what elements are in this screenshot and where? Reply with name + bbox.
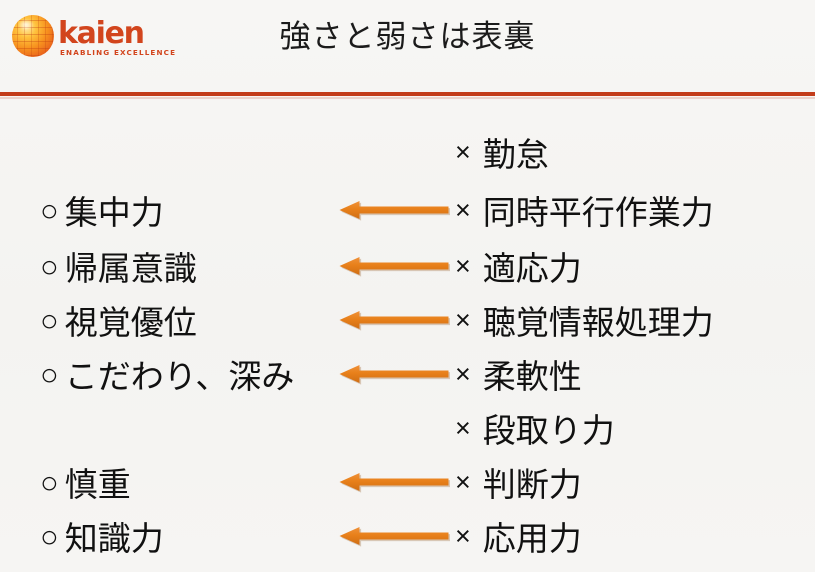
cross-icon: × bbox=[455, 307, 471, 334]
table-row: ○ 帰属意識 × 適応力 bbox=[0, 240, 815, 292]
page-title: 強さと弱さは表裏 bbox=[0, 18, 815, 55]
circle-icon: ○ bbox=[40, 521, 59, 552]
weakness-label: 段取り力 bbox=[483, 404, 615, 452]
weakness-item: × 判断力 bbox=[455, 456, 582, 508]
table-row: ○ 視覚優位 × 聴覚情報処理力 bbox=[0, 294, 815, 346]
weakness-label: 聴覚情報処理力 bbox=[483, 296, 714, 344]
strength-item: ○ 知識力 bbox=[40, 510, 164, 562]
weakness-item: × 同時平行作業力 bbox=[455, 184, 714, 236]
circle-icon: ○ bbox=[40, 305, 59, 336]
table-row: ○ こだわり、深み × 柔軟性 bbox=[0, 348, 815, 400]
left-arrow-icon bbox=[336, 308, 450, 332]
cross-icon: × bbox=[455, 253, 471, 280]
slide: kaien ENABLING EXCELLENCE 強さと弱さは表裏 × 勤怠 … bbox=[0, 0, 815, 572]
cross-icon: × bbox=[455, 523, 471, 550]
strength-label: 視覚優位 bbox=[65, 296, 197, 344]
weakness-label: 柔軟性 bbox=[483, 350, 582, 398]
strength-label: 知識力 bbox=[65, 512, 164, 560]
circle-icon: ○ bbox=[40, 251, 59, 282]
strength-label: 慎重 bbox=[65, 458, 131, 506]
cross-icon: × bbox=[455, 415, 471, 442]
strength-label: 帰属意識 bbox=[65, 242, 197, 290]
table-row: ○ 知識力 × 応用力 bbox=[0, 510, 815, 562]
weakness-label: 応用力 bbox=[483, 512, 582, 560]
table-row: ○ 慎重 × 判断力 bbox=[0, 456, 815, 508]
header-divider bbox=[0, 92, 815, 96]
left-arrow-icon bbox=[336, 254, 450, 278]
weakness-item: × 柔軟性 bbox=[455, 348, 582, 400]
circle-icon: ○ bbox=[40, 195, 59, 226]
header-divider-shadow bbox=[0, 97, 815, 99]
slide-header: kaien ENABLING EXCELLENCE 強さと弱さは表裏 bbox=[0, 0, 815, 94]
cross-icon: × bbox=[455, 469, 471, 496]
weakness-item: × 勤怠 bbox=[455, 126, 549, 178]
strength-item: ○ 帰属意識 bbox=[40, 240, 197, 292]
left-arrow-icon bbox=[336, 524, 450, 548]
circle-icon: ○ bbox=[40, 359, 59, 390]
weakness-label: 勤怠 bbox=[483, 128, 549, 176]
table-row: ○ 集中力 bbox=[0, 184, 815, 236]
left-arrow-icon bbox=[336, 362, 450, 386]
weakness-label: 判断力 bbox=[483, 458, 582, 506]
weakness-item: × 適応力 bbox=[455, 240, 582, 292]
cross-icon: × bbox=[455, 197, 471, 224]
strength-item: ○ こだわり、深み bbox=[40, 348, 294, 400]
weakness-item: × 段取り力 bbox=[455, 402, 615, 454]
left-arrow-icon bbox=[336, 470, 450, 494]
weakness-item: × 聴覚情報処理力 bbox=[455, 294, 714, 346]
left-arrow-icon bbox=[336, 198, 450, 222]
table-row: × 勤怠 bbox=[0, 126, 815, 178]
strength-label: 集中力 bbox=[65, 186, 164, 234]
strength-item: ○ 集中力 bbox=[40, 184, 164, 236]
weakness-item: × 応用力 bbox=[455, 510, 582, 562]
circle-icon: ○ bbox=[40, 467, 59, 498]
strength-item: ○ 視覚優位 bbox=[40, 294, 197, 346]
weakness-label: 適応力 bbox=[483, 242, 582, 290]
table-row: × 段取り力 bbox=[0, 402, 815, 454]
content-area: × 勤怠 ○ 集中力 bbox=[0, 100, 815, 572]
strength-label: こだわり、深み bbox=[65, 350, 295, 398]
cross-icon: × bbox=[455, 139, 471, 166]
strength-item: ○ 慎重 bbox=[40, 456, 131, 508]
weakness-label: 同時平行作業力 bbox=[483, 186, 714, 234]
cross-icon: × bbox=[455, 361, 471, 388]
